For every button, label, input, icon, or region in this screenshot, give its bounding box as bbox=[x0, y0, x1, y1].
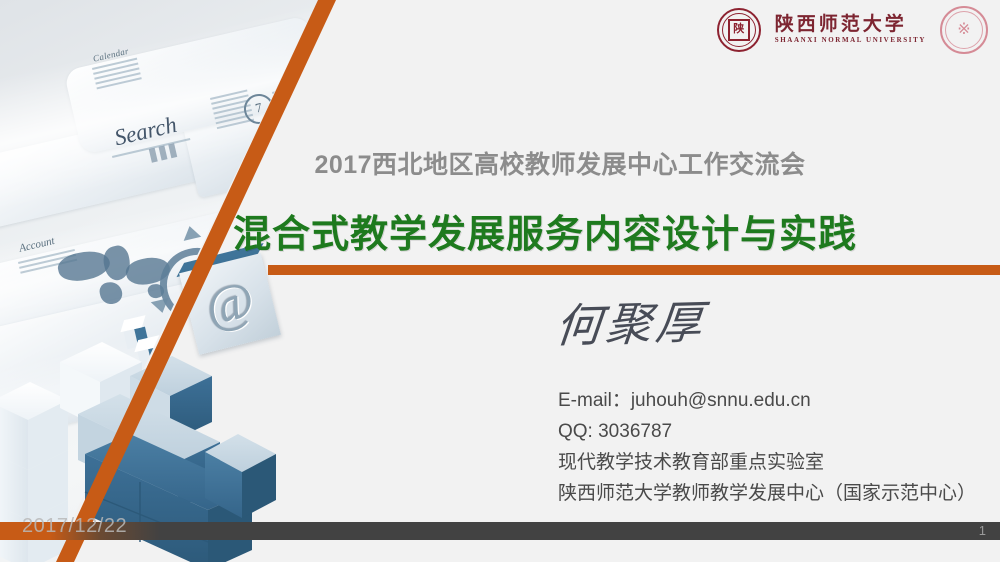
presentation-slide: Calendar Search 7 Account bbox=[0, 0, 1000, 562]
contact-qq: QQ: 3036787 bbox=[558, 416, 976, 447]
page-number: 1 bbox=[979, 523, 986, 538]
contact-email: E-mail：juhouh@snnu.edu.cn bbox=[558, 385, 976, 416]
secondary-seal-character: ※ bbox=[954, 21, 974, 39]
logo-group: 陕 陕西师范大学 SHAANXI NORMAL UNIVERSITY ※ bbox=[717, 6, 988, 54]
at-sign-icon: @ bbox=[179, 253, 281, 355]
university-seal-icon: 陕 bbox=[717, 8, 761, 52]
contact-info-block: E-mail：juhouh@snnu.edu.cn QQ: 3036787 现代… bbox=[558, 385, 976, 509]
conference-subtitle: 2017西北地区高校教师发展中心工作交流会 bbox=[0, 145, 1000, 181]
university-wordmark: 陕西师范大学 SHAANXI NORMAL UNIVERSITY bbox=[775, 15, 926, 44]
at-symbol-card: @ bbox=[179, 253, 281, 355]
artwork-text-lines bbox=[272, 84, 312, 121]
presentation-title: 混合式教学发展服务内容设计与实践 bbox=[0, 203, 1000, 258]
secondary-seal-icon: ※ bbox=[940, 6, 988, 54]
university-name-en: SHAANXI NORMAL UNIVERSITY bbox=[775, 37, 926, 44]
handwritten-signature: 何聚厚 bbox=[553, 286, 710, 356]
affiliation-center: 陕西师范大学教师教学发展中心（国家示范中心） bbox=[558, 478, 976, 509]
university-name-cn: 陕西师范大学 bbox=[775, 15, 926, 35]
seal-character: 陕 bbox=[728, 19, 750, 41]
affiliation-lab: 现代教学技术教育部重点实验室 bbox=[558, 447, 976, 478]
slide-date: 2017/12/22 bbox=[22, 515, 127, 538]
orange-divider-rule bbox=[268, 265, 1000, 275]
footer-bar bbox=[0, 522, 1000, 540]
